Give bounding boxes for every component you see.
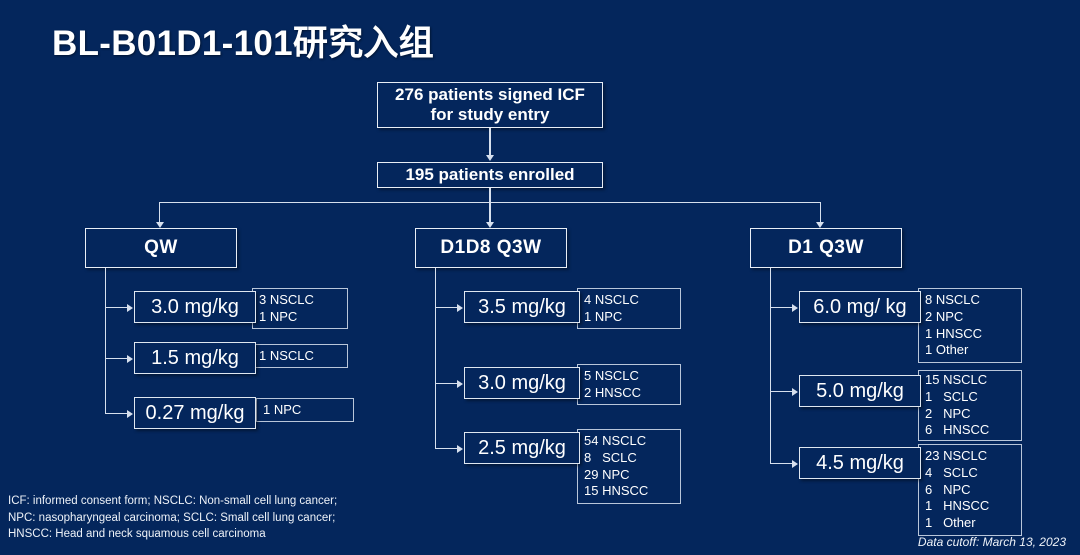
dose-label-qw-1: 3.0 mg/kg [151,296,239,319]
connector-qw-dose-2 [105,358,128,359]
count-text-qw-1: 3 NSCLC 1 NPC [259,292,343,326]
count-box-d1d8-3: 54 NSCLC 8 SCLC 29 NPC 15 HNSCC [577,429,681,504]
arm-label-qw: QW [144,237,178,259]
screening-box: 276 patients signed ICF for study entry [377,82,603,128]
count-box-qw-3: 1 NPC [256,398,354,422]
dose-box-qw-3: 0.27 mg/kg [134,397,256,429]
arrow-drop-d1d8 [486,222,494,228]
dose-label-d1d8-2: 3.0 mg/kg [478,372,566,395]
dose-label-d1-2: 5.0 mg/kg [816,380,904,403]
dose-box-d1-1: 6.0 mg/ kg [799,291,921,323]
arrow-d1d8-dose-2 [457,380,463,388]
connector-screening-to-enrolled [489,128,490,156]
count-box-d1d8-2: 5 NSCLC 2 HNSCC [577,364,681,405]
connector-d1-dose-2 [770,391,793,392]
connector-drop-d1 [820,202,821,223]
arm-box-qw: QW [85,228,237,268]
arm-label-d1d8-q3w: D1D8 Q3W [440,237,541,259]
connector-d1-dose-3 [770,463,793,464]
connector-d1d8-dose-3 [435,448,458,449]
arrow-drop-d1 [816,222,824,228]
count-box-d1-2: 15 NSCLC 1 SCLC 2 NPC 6 HNSCC [918,370,1022,441]
arrow-qw-dose-3 [127,410,133,418]
connector-d1-dose-1 [770,307,793,308]
dose-label-d1d8-1: 3.5 mg/kg [478,296,566,319]
count-text-qw-3: 1 NPC [263,402,349,419]
screening-line-1: 276 patients signed ICF [395,85,585,105]
arrow-screening-to-enrolled [486,155,494,161]
dose-box-d1-2: 5.0 mg/kg [799,375,921,407]
connector-spine-d1d8 [435,268,436,448]
arrow-d1-dose-2 [792,388,798,396]
arrow-d1d8-dose-1 [457,304,463,312]
connector-enrolled-stem [489,188,490,202]
arrow-d1d8-dose-3 [457,445,463,453]
connector-d1d8-dose-2 [435,383,458,384]
dose-label-d1-1: 6.0 mg/ kg [813,296,906,319]
count-text-d1d8-2: 5 NSCLC 2 HNSCC [584,368,676,402]
arm-label-d1-q3w: D1 Q3W [788,237,864,259]
dose-box-d1-3: 4.5 mg/kg [799,447,921,479]
arrow-qw-dose-1 [127,304,133,312]
abbreviations-footnote: ICF: informed consent form; NSCLC: Non-s… [8,493,337,543]
count-text-d1d8-1: 4 NSCLC 1 NPC [584,292,676,326]
dose-label-d1d8-3: 2.5 mg/kg [478,437,566,460]
screening-line-2: for study entry [430,105,549,125]
connector-spine-d1 [770,268,771,463]
enrolled-label: 195 patients enrolled [405,165,574,185]
connector-qw-dose-3 [105,413,128,414]
count-text-d1-3: 23 NSCLC 4 SCLC 6 NPC 1 HNSCC 1 Other [925,448,1017,532]
arrow-d1-dose-3 [792,460,798,468]
dose-label-d1-3: 4.5 mg/kg [816,452,904,475]
count-box-qw-2: 1 NSCLC [252,344,348,368]
dose-box-d1d8-3: 2.5 mg/kg [464,432,580,464]
count-box-qw-1: 3 NSCLC 1 NPC [252,288,348,329]
arm-box-d1-q3w: D1 Q3W [750,228,902,268]
arrow-d1-dose-1 [792,304,798,312]
dose-box-d1d8-1: 3.5 mg/kg [464,291,580,323]
arm-box-d1d8-q3w: D1D8 Q3W [415,228,567,268]
dose-box-qw-1: 3.0 mg/kg [134,291,256,323]
count-text-d1d8-3: 54 NSCLC 8 SCLC 29 NPC 15 HNSCC [584,433,676,501]
connector-drop-qw [159,202,160,223]
connector-qw-dose-1 [105,307,128,308]
count-box-d1-1: 8 NSCLC 2 NPC 1 HNSCC 1 Other [918,288,1022,363]
arrow-qw-dose-2 [127,355,133,363]
count-box-d1d8-1: 4 NSCLC 1 NPC [577,288,681,329]
connector-spine-qw [105,268,106,413]
count-box-d1-3: 23 NSCLC 4 SCLC 6 NPC 1 HNSCC 1 Other [918,444,1022,536]
count-text-qw-2: 1 NSCLC [259,348,343,365]
connector-drop-d1d8 [489,202,490,223]
slide-canvas: BL-B01D1-101研究入组 276 patients signed ICF… [0,0,1080,555]
connector-d1d8-dose-1 [435,307,458,308]
arrow-drop-qw [156,222,164,228]
dose-label-qw-2: 1.5 mg/kg [151,347,239,370]
enrolled-box: 195 patients enrolled [377,162,603,188]
page-title: BL-B01D1-101研究入组 [52,15,434,66]
count-text-d1-2: 15 NSCLC 1 SCLC 2 NPC 6 HNSCC [925,372,1017,440]
dose-box-qw-2: 1.5 mg/kg [134,342,256,374]
dose-label-qw-3: 0.27 mg/kg [146,402,245,425]
data-cutoff-note: Data cutoff: March 13, 2023 [918,535,1066,549]
count-text-d1-1: 8 NSCLC 2 NPC 1 HNSCC 1 Other [925,292,1017,360]
dose-box-d1d8-2: 3.0 mg/kg [464,367,580,399]
